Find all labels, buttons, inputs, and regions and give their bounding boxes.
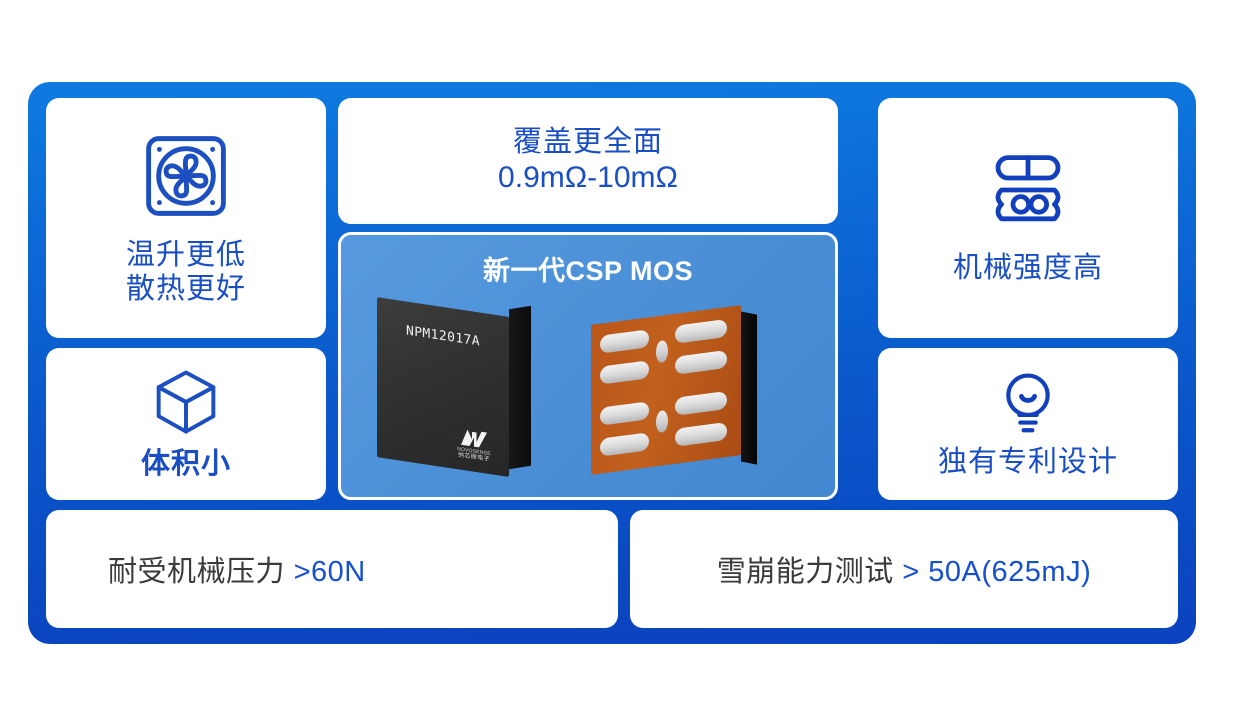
thermal-label-line2: 散热更好 (126, 272, 246, 306)
cube-box-icon (151, 367, 221, 437)
pcb-top-face (591, 305, 741, 475)
avalanche-label: 雪崩能力测试 (717, 556, 903, 588)
feature-card-coverage[interactable]: 覆盖更全面 0.9mΩ-10mΩ (338, 98, 838, 224)
pressure-label: 耐受机械压力 (108, 556, 294, 588)
feature-card-strength-label: 机械强度高 (953, 251, 1103, 285)
pcb-pad (675, 350, 727, 375)
feature-card-size[interactable]: 体积小 (46, 348, 326, 500)
feature-card-thermal[interactable]: 温升更低 散热更好 (46, 98, 326, 338)
feature-card-avalanche[interactable]: 雪崩能力测试 > 50A(625mJ) (630, 510, 1178, 628)
pcb-pad (675, 422, 727, 447)
avalanche-value: > 50A(625mJ) (902, 556, 1091, 588)
pcb-pad (675, 391, 727, 416)
feature-card-thermal-label: 温升更低 散热更好 (126, 238, 246, 306)
pcb-pad (600, 401, 649, 425)
product-showcase-panel[interactable]: 新一代CSP MOS NPM12017A NOVOSENSE 纳芯微电子 (338, 232, 838, 500)
pcb-pad (600, 360, 649, 384)
pcb-side-face (741, 312, 757, 465)
pressure-value: >60N (294, 556, 366, 588)
feature-card-patent-label: 独有专利设计 (938, 445, 1118, 479)
chip-brand-logo: NOVOSENSE 纳芯微电子 (447, 425, 501, 466)
chip-part-number: NPM12017A (377, 319, 509, 354)
pcb-pad (600, 432, 649, 456)
lightbulb-idea-icon (995, 369, 1061, 439)
pcb-substrate-render (591, 305, 741, 475)
product-panel-title: 新一代CSP MOS (341, 249, 835, 288)
mechanical-strength-icon (986, 151, 1070, 229)
chip-package-render: NPM12017A NOVOSENSE 纳芯微电子 (377, 297, 509, 477)
feature-frame: 温升更低 散热更好 体积小 覆盖更全面 0.9mΩ-10mΩ 新一代CSP MO… (28, 82, 1196, 644)
pressure-statement: 耐受机械压力 >60N (108, 548, 366, 590)
feature-card-size-label: 体积小 (141, 447, 231, 481)
thermal-label-line1: 温升更低 (126, 238, 246, 272)
pcb-oval-pad (656, 340, 668, 364)
chip-side-face (509, 306, 531, 469)
pcb-pad (600, 329, 649, 353)
avalanche-statement: 雪崩能力测试 > 50A(625mJ) (717, 548, 1092, 590)
chip-top-face: NPM12017A NOVOSENSE 纳芯微电子 (377, 297, 509, 477)
cooling-fan-icon (140, 130, 232, 222)
feature-card-pressure[interactable]: 耐受机械压力 >60N (46, 510, 618, 628)
coverage-title: 覆盖更全面 (513, 125, 663, 160)
feature-card-strength[interactable]: 机械强度高 (878, 98, 1178, 338)
pcb-oval-pad (656, 410, 668, 434)
pcb-pad (675, 319, 727, 344)
coverage-resistance-range: 0.9mΩ-10mΩ (498, 160, 678, 197)
feature-card-patent[interactable]: 独有专利设计 (878, 348, 1178, 500)
